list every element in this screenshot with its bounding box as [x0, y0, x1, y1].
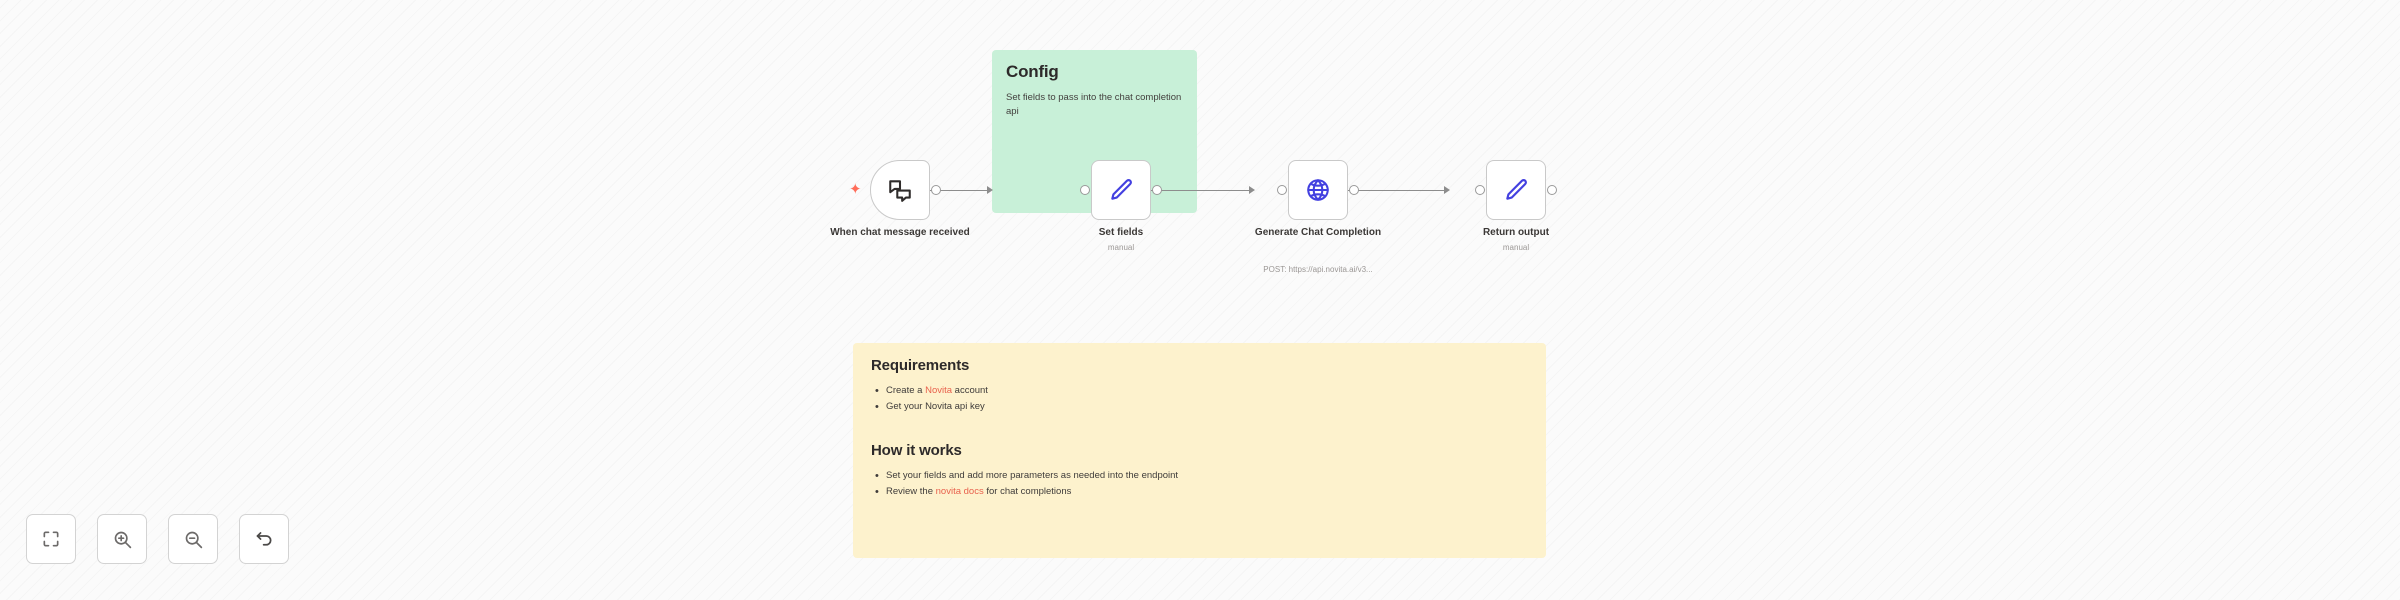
- list-item: Review the novita docs for chat completi…: [871, 484, 1528, 500]
- node-subtitle: manual: [1021, 243, 1221, 253]
- fit-view-icon: [41, 529, 61, 549]
- zoom-out-icon: [183, 529, 204, 550]
- sticky-note-requirements[interactable]: Requirements Create a Novita account Get…: [853, 343, 1546, 558]
- list-item: Set your fields and add more parameters …: [871, 468, 1528, 484]
- workflow-canvas[interactable]: Config Set fields to pass into the chat …: [0, 0, 2400, 600]
- requirements-heading: Requirements: [871, 357, 1528, 374]
- list-item-text-tail: account: [952, 385, 988, 396]
- node-input-port[interactable]: [1080, 185, 1090, 195]
- zoom-in-button[interactable]: [97, 514, 147, 564]
- reset-zoom-button[interactable]: [239, 514, 289, 564]
- node-label: When chat message received: [820, 227, 980, 240]
- node-output-port[interactable]: [931, 185, 941, 195]
- node-subtitle: manual: [1416, 243, 1616, 253]
- node-return-output[interactable]: Return output manual: [1486, 160, 1546, 220]
- list-item-text: Review the: [886, 486, 936, 497]
- sticky-note-config-body: Set fields to pass into the chat complet…: [1006, 91, 1183, 119]
- how-it-works-heading: How it works: [871, 442, 1528, 459]
- fit-to-view-button[interactable]: [26, 514, 76, 564]
- node-label: Generate Chat Completion: [1238, 227, 1398, 240]
- node-output-port[interactable]: [1547, 185, 1557, 195]
- trigger-bolt-icon: ✦: [849, 182, 862, 197]
- list-item-text: Create a: [886, 385, 925, 396]
- pencil-icon: [1503, 177, 1529, 203]
- novita-docs-link[interactable]: novita docs: [936, 486, 984, 497]
- zoom-in-icon: [112, 529, 133, 550]
- node-output-port[interactable]: [1152, 185, 1162, 195]
- node-label: Set fields: [1041, 227, 1201, 240]
- node-input-port[interactable]: [1475, 185, 1485, 195]
- node-generate-chat-completion[interactable]: Generate Chat Completion POST: https://a…: [1288, 160, 1348, 220]
- list-item-text: Get your Novita api key: [886, 401, 985, 412]
- node-output-port[interactable]: [1349, 185, 1359, 195]
- globe-icon: [1305, 177, 1331, 203]
- edge-generate-to-return-output: [1348, 189, 1454, 191]
- sticky-note-config-title: Config: [1006, 62, 1183, 82]
- node-input-port[interactable]: [1277, 185, 1287, 195]
- list-item-text: Set your fields and add more parameters …: [886, 470, 1178, 481]
- requirements-list: Create a Novita account Get your Novita …: [871, 383, 1528, 414]
- pencil-icon: [1108, 177, 1134, 203]
- edge-set-fields-to-generate: [1151, 189, 1259, 191]
- list-item: Get your Novita api key: [871, 399, 1528, 415]
- zoom-out-button[interactable]: [168, 514, 218, 564]
- node-label: Return output: [1436, 227, 1596, 240]
- node-set-fields[interactable]: Set fields manual: [1091, 160, 1151, 220]
- node-when-chat-message-received[interactable]: ✦ When chat message received: [870, 160, 930, 220]
- undo-icon: [254, 529, 275, 550]
- list-item: Create a Novita account: [871, 383, 1528, 399]
- chat-bubbles-icon: [887, 177, 913, 203]
- novita-link[interactable]: Novita: [925, 385, 952, 396]
- canvas-toolbar: [26, 514, 289, 564]
- how-it-works-list: Set your fields and add more parameters …: [871, 468, 1528, 499]
- node-subtitle: POST: https://api.novita.ai/v3...: [1218, 265, 1418, 275]
- list-item-text-tail: for chat completions: [984, 486, 1072, 497]
